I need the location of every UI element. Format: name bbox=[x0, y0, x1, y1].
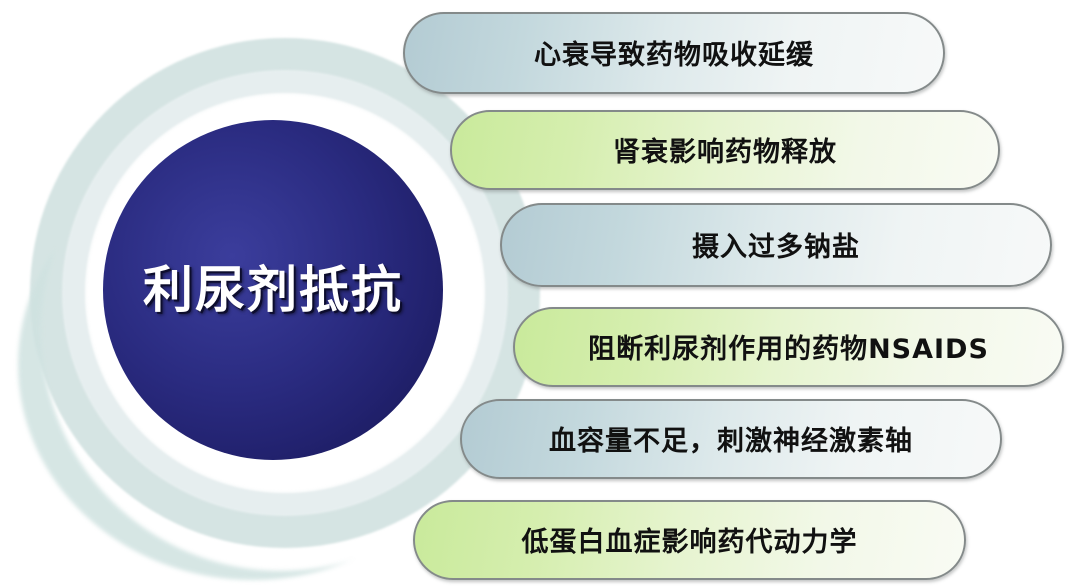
branch-node-2-label: 肾衰影响药物释放 bbox=[613, 130, 837, 169]
branch-node-5: 血容量不足，刺激神经激素轴 bbox=[460, 399, 1002, 479]
branch-node-4-label: 阻断利尿剂作用的药物NSAIDS bbox=[588, 327, 989, 366]
branch-node-1: 心衰导致药物吸收延缓 bbox=[403, 12, 945, 94]
branch-node-4: 阻断利尿剂作用的药物NSAIDS bbox=[513, 307, 1064, 387]
branch-node-2: 肾衰影响药物释放 bbox=[450, 110, 1000, 190]
branch-node-6-label: 低蛋白血症影响药代动力学 bbox=[522, 520, 858, 559]
central-node-diuretic-resistance: 利尿剂抵抗 bbox=[103, 120, 443, 460]
branch-node-5-label: 血容量不足，刺激神经激素轴 bbox=[549, 419, 913, 458]
diagram-canvas: 利尿剂抵抗 心衰导致药物吸收延缓 肾衰影响药物释放 摄入过多钠盐 阻断利尿剂作用… bbox=[0, 0, 1080, 586]
central-node-label: 利尿剂抵抗 bbox=[143, 250, 403, 322]
branch-node-1-label: 心衰导致药物吸收延缓 bbox=[534, 33, 814, 72]
branch-node-3: 摄入过多钠盐 bbox=[500, 203, 1052, 287]
branch-node-6: 低蛋白血症影响药代动力学 bbox=[413, 500, 966, 580]
branch-node-3-label: 摄入过多钠盐 bbox=[692, 225, 860, 264]
